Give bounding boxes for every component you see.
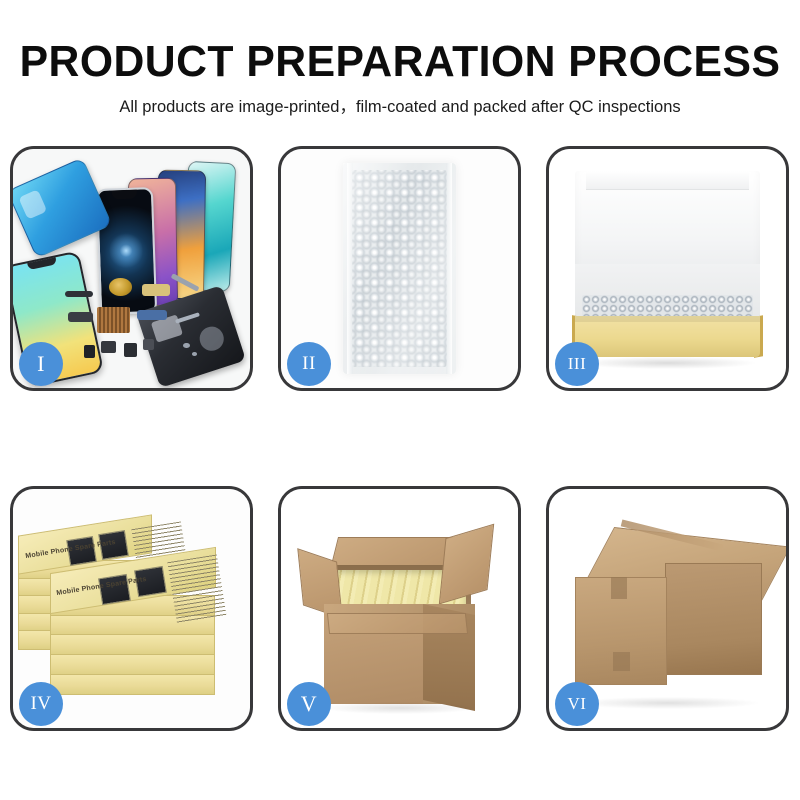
step-panel-2: II bbox=[278, 146, 521, 391]
part-camera-module bbox=[84, 345, 95, 358]
step-badge-6: VI bbox=[555, 682, 599, 726]
step-badge-5: V bbox=[287, 682, 331, 726]
part-flex-cable-a bbox=[142, 284, 169, 296]
spare-parts-cluster bbox=[65, 278, 202, 383]
step-panel-1: I bbox=[10, 146, 253, 391]
step-badge-2: II bbox=[287, 342, 331, 386]
page-title: PRODUCT PREPARATION PROCESS bbox=[12, 0, 788, 86]
part-bar bbox=[65, 291, 92, 297]
process-steps-grid: I II bbox=[10, 146, 790, 736]
pouch-sheen bbox=[343, 163, 457, 373]
phone-notch bbox=[112, 190, 137, 199]
part-flex-cable-b bbox=[137, 310, 167, 321]
mailer-box-base bbox=[575, 316, 760, 357]
step-panel-5: V bbox=[278, 486, 521, 731]
part-chip bbox=[97, 307, 130, 332]
retail-box-front-4 bbox=[50, 654, 216, 676]
part-coil bbox=[109, 278, 132, 296]
mailer-shadow bbox=[580, 357, 755, 369]
carton-tape-lower bbox=[613, 652, 630, 671]
retail-box-front-textlines bbox=[168, 554, 227, 624]
header: PRODUCT PREPARATION PROCESS All products… bbox=[0, 0, 800, 117]
carton-tape-upper bbox=[611, 577, 628, 599]
part-screwdriver bbox=[175, 312, 200, 324]
step-badge-3: III bbox=[555, 342, 599, 386]
page-subtitle: All products are image-printed，film-coat… bbox=[0, 86, 800, 117]
part-square-c bbox=[143, 339, 154, 350]
part-screw-a bbox=[183, 343, 190, 348]
carton-flap-front bbox=[327, 613, 469, 634]
product-preparation-infographic: PRODUCT PREPARATION PROCESS All products… bbox=[0, 0, 800, 800]
sealed-carton-shadow bbox=[577, 697, 757, 709]
step-badge-1: I bbox=[19, 342, 63, 386]
part-flex-cable-c bbox=[68, 312, 93, 323]
step-panel-4: Mobile Phone Spare Parts Mobile Phone Sp… bbox=[10, 486, 253, 731]
part-square-b bbox=[124, 343, 136, 357]
step-panel-3: III bbox=[546, 146, 789, 391]
part-square-a bbox=[101, 341, 116, 353]
part-screw-b bbox=[192, 352, 197, 356]
retail-box-front-5 bbox=[50, 674, 216, 696]
retail-box-front-3 bbox=[50, 634, 216, 656]
step-badge-4: IV bbox=[19, 682, 63, 726]
sealed-carton-side-face bbox=[665, 563, 762, 675]
retail-box-stack: Mobile Phone Spare Parts Mobile Phone Sp… bbox=[18, 513, 246, 709]
carton-shadow bbox=[324, 702, 476, 714]
step-panel-6: VI bbox=[546, 486, 789, 731]
bubble-wrap-pouch bbox=[343, 163, 457, 373]
